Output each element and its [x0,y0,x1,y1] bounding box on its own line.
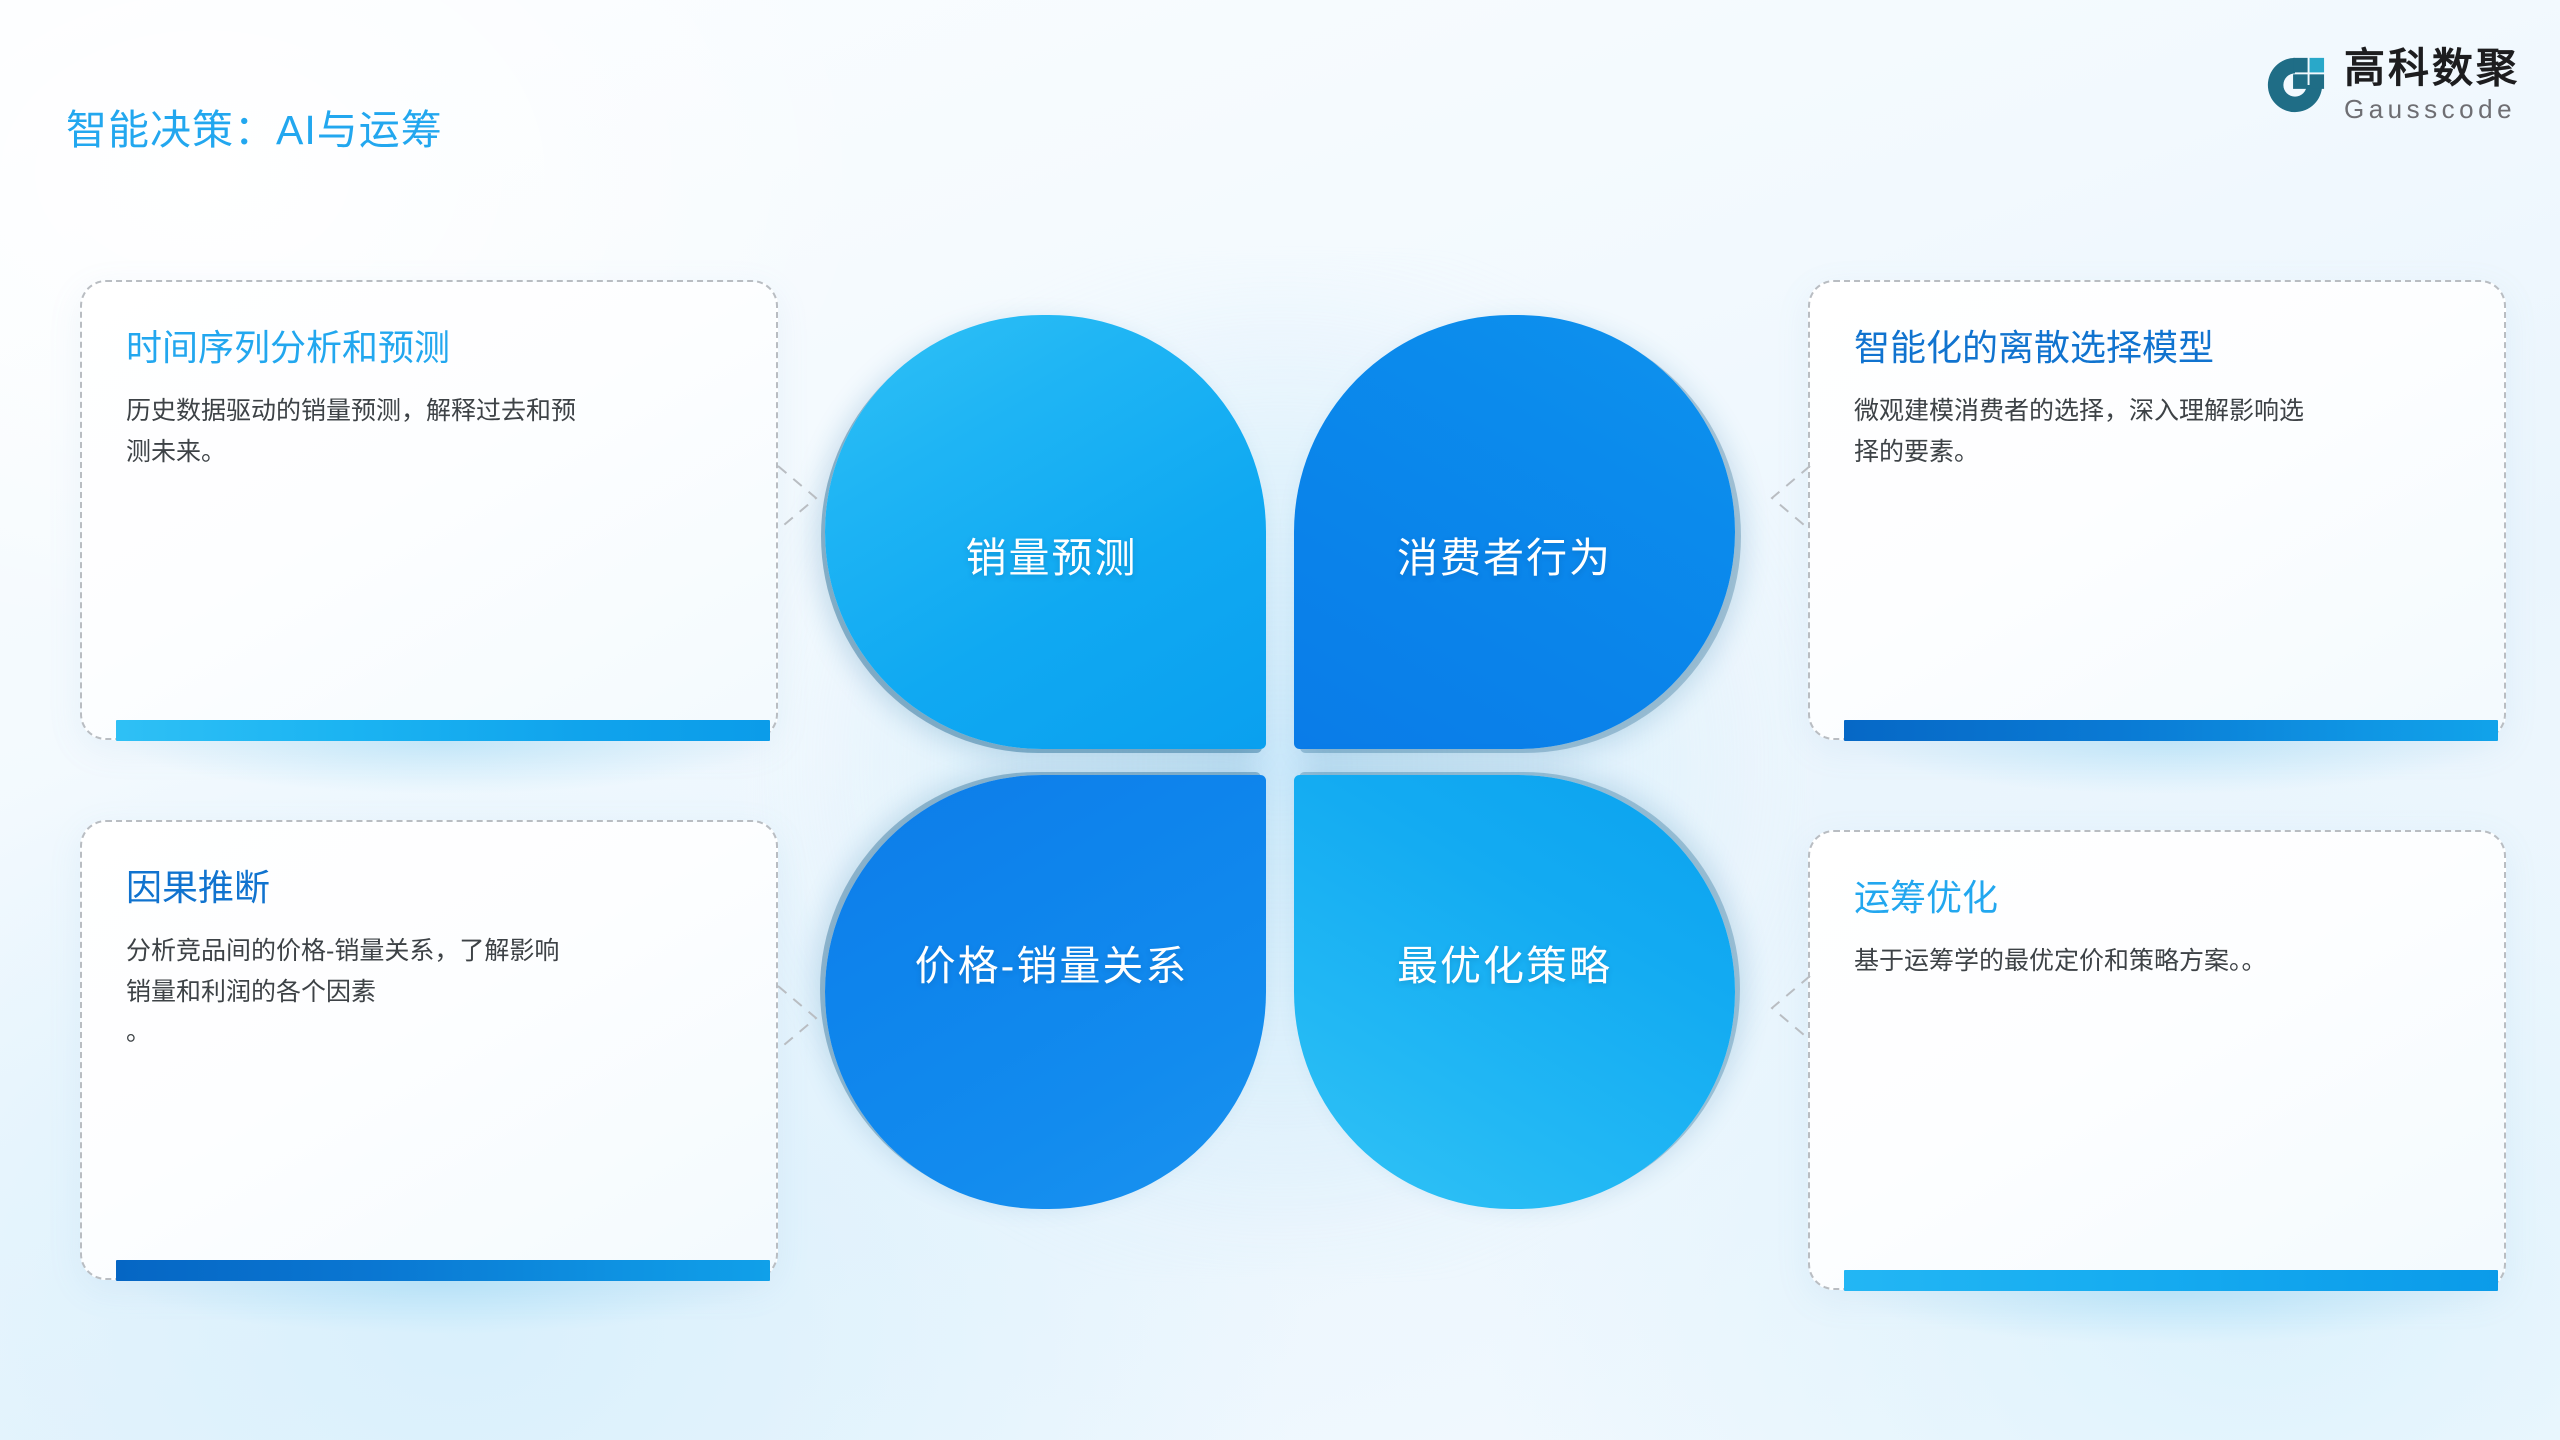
card-description: 历史数据驱动的销量预测，解释过去和预 测未来。 [126,391,742,472]
card-causal-inference[interactable]: 因果推断 分析竞品间的价格-销量关系，了解影响 销量和利润的各个因素 。 [80,820,778,1280]
card-title: 因果推断 [126,866,742,909]
petal-label: 价格-销量关系 [915,932,1189,992]
chevron-left-icon [1766,974,1812,1042]
card-accent-bar [1844,1270,2498,1291]
logo-name-en: Gausscode [2344,96,2520,122]
petal-label: 消费者行为 [1397,524,1612,584]
card-content: 时间序列分析和预测 历史数据驱动的销量预测，解释过去和预 测未来。 [126,326,742,472]
card-title: 时间序列分析和预测 [126,326,742,369]
card-title: 智能化的离散选择模型 [1854,326,2470,369]
chevron-right-icon [776,984,822,1052]
card-discrete-choice-model[interactable]: 智能化的离散选择模型 微观建模消费者的选择，深入理解影响选 择的要素。 [1808,280,2506,740]
slide-root: 智能决策：AI与运筹 高科数聚 Gausscode 销量预测 消费者行为 价格-… [0,0,2560,1440]
card-accent-bar [116,720,770,741]
petal-label: 销量预测 [966,524,1138,584]
card-content: 智能化的离散选择模型 微观建模消费者的选择，深入理解影响选 择的要素。 [1854,326,2470,472]
petal-consumer-behavior[interactable]: 消费者行为 [1294,315,1735,749]
petal-price-sales-relation[interactable]: 价格-销量关系 [825,775,1266,1209]
card-accent-bar [116,1260,770,1281]
logo-name-cn: 高科数聚 [2344,48,2520,89]
card-title: 运筹优化 [1854,876,2470,919]
card-accent-bar [1844,720,2498,741]
petal-diagram: 销量预测 消费者行为 价格-销量关系 最优化策略 [825,315,1735,1215]
card-operations-optimization[interactable]: 运筹优化 基于运筹学的最优定价和策略方案。。 [1808,830,2506,1290]
petal-label: 最优化策略 [1397,932,1612,992]
gausscode-logo-icon [2264,54,2326,116]
card-description: 分析竞品间的价格-销量关系，了解影响 销量和利润的各个因素 。 [126,931,742,1053]
page-title: 智能决策：AI与运筹 [66,96,443,156]
card-content: 因果推断 分析竞品间的价格-销量关系，了解影响 销量和利润的各个因素 。 [126,866,742,1053]
chevron-right-icon [776,464,822,532]
petal-sales-forecast[interactable]: 销量预测 [825,315,1266,749]
brand-logo: 高科数聚 Gausscode [2264,48,2520,122]
card-content: 运筹优化 基于运筹学的最优定价和策略方案。。 [1854,876,2470,982]
card-time-series-forecasting[interactable]: 时间序列分析和预测 历史数据驱动的销量预测，解释过去和预 测未来。 [80,280,778,740]
card-description: 微观建模消费者的选择，深入理解影响选 择的要素。 [1854,391,2470,472]
logo-wordmark: 高科数聚 Gausscode [2344,48,2520,122]
chevron-left-icon [1766,464,1812,532]
petal-optimization-strategy[interactable]: 最优化策略 [1294,775,1735,1209]
card-description: 基于运筹学的最优定价和策略方案。。 [1854,941,2470,982]
